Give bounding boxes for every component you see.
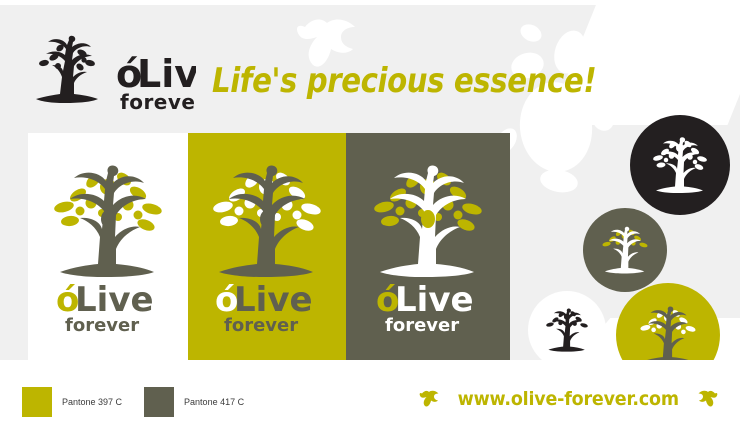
header-logo-lockup: ó Live forever: [24, 33, 196, 115]
logo-badge-white: [528, 291, 606, 360]
swatch-label-pantone-397: Pantone 397 C: [62, 397, 122, 407]
panel-subtitle: forever: [65, 315, 139, 334]
logo-panel-white: ó Live forever: [28, 133, 188, 360]
decorative-leaf-blob: [538, 167, 579, 195]
olive-tree-icon: [546, 309, 589, 352]
brand-board: ó Live forever Life's precious essence!: [0, 5, 740, 360]
logo-lockup-olive-bg: ó Live forever: [193, 159, 341, 339]
swatch-pantone-397: [22, 387, 52, 417]
bird-icon: [419, 389, 441, 409]
swatch-pantone-417: [144, 387, 174, 417]
header-subtitle: forever: [120, 90, 196, 114]
olive-tree-icon: [36, 36, 98, 103]
olive-tree-icon: [602, 227, 648, 274]
color-swatch-list: Pantone 397 C Pantone 417 C: [22, 387, 266, 417]
logo-badge-black: [630, 115, 730, 215]
logo-lockup-white-bg: ó Live forever: [34, 159, 182, 339]
bird-icon: [696, 389, 718, 409]
panel-wordmark-rest: Live: [395, 280, 474, 320]
website-url[interactable]: www.olive-forever.com: [458, 388, 679, 410]
footer: Pantone 397 C Pantone 417 C www.olive-fo…: [0, 360, 740, 425]
panel-wordmark-rest: Live: [234, 280, 313, 320]
olive-tree-icon: [53, 165, 163, 277]
logo-panel-gray: ó Live forever: [346, 133, 510, 360]
panel-subtitle: forever: [385, 315, 459, 334]
logo-badge-olive: [616, 283, 720, 360]
logo-lockup-gray-bg: ó Live forever: [354, 159, 502, 339]
olive-tree-icon: [212, 165, 322, 277]
logo-panel-olive: ó Live forever: [188, 133, 346, 360]
olive-tree-icon: [653, 137, 708, 193]
panel-subtitle: forever: [224, 315, 298, 334]
brand-sheet: ó Live forever Life's precious essence!: [0, 0, 740, 425]
panel-wordmark-rest: Live: [75, 280, 154, 320]
website-row[interactable]: www.olive-forever.com: [419, 388, 718, 410]
olive-tree-icon: [640, 306, 696, 360]
tagline: Life's precious essence!: [212, 61, 596, 101]
decorative-leaf-blob: [518, 21, 545, 45]
olive-tree-icon: [373, 165, 483, 277]
swatch-label-pantone-417: Pantone 417 C: [184, 397, 244, 407]
logo-badge-gray: [583, 208, 667, 292]
